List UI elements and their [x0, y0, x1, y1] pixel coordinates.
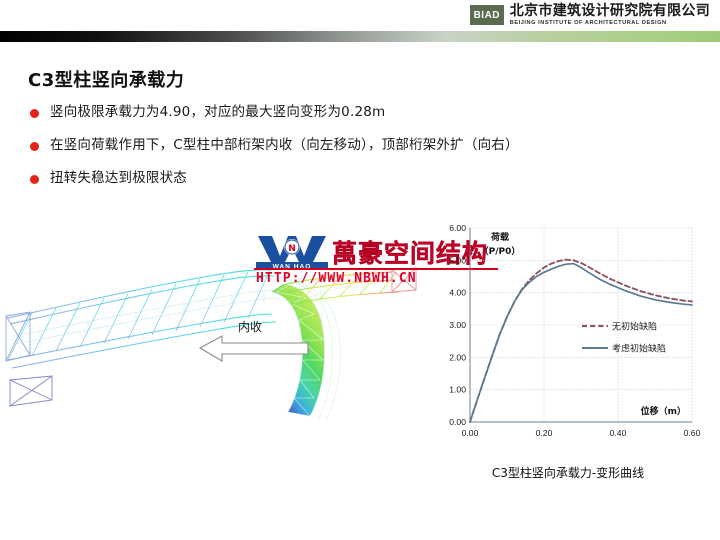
- chart-legend: 无初始缺陷考虑初始缺陷: [582, 320, 666, 354]
- svg-text:荷载: 荷载: [490, 231, 509, 243]
- biad-logo: BIAD 北京市建筑设计研究院有限公司 BEIJING INSTITUTE OF…: [470, 4, 710, 27]
- header-gradient-bar: [0, 31, 720, 42]
- chart-svg: 0.001.002.003.004.005.006.000.000.200.40…: [434, 216, 702, 464]
- chart-caption: C3型柱竖向承载力-变形曲线: [434, 464, 702, 481]
- company-name-cn: 北京市建筑设计研究院有限公司: [510, 4, 710, 18]
- bullet-list: 竖向极限承载力为4.90，对应的最大竖向变形为0.28m 在竖向荷载作用下，C型…: [30, 104, 690, 203]
- svg-text:0.40: 0.40: [610, 428, 627, 438]
- svg-text:（P/P0）: （P/P0）: [480, 246, 521, 257]
- svg-text:6.00: 6.00: [449, 223, 466, 233]
- bullet-dot-icon: [30, 142, 39, 151]
- svg-text:0.00: 0.00: [449, 417, 466, 427]
- svg-text:4.00: 4.00: [449, 288, 466, 298]
- truss-start-box: [6, 312, 30, 361]
- inward-arrow-annotation: 内收: [196, 318, 314, 370]
- list-item: 在竖向荷载作用下，C型柱中部桁架内收（向左移动），顶部桁架外扩（向右）: [30, 137, 690, 154]
- svg-text:0.00: 0.00: [462, 428, 479, 438]
- svg-text:3.00: 3.00: [449, 320, 466, 330]
- bullet-text: 竖向极限承载力为4.90，对应的最大竖向变形为0.28m: [50, 104, 385, 121]
- svg-text:1.00: 1.00: [449, 385, 466, 395]
- svg-text:无初始缺陷: 无初始缺陷: [612, 320, 657, 332]
- biad-logo-mark: BIAD: [470, 5, 504, 25]
- svg-text:5.00: 5.00: [449, 255, 466, 265]
- svg-text:2.00: 2.00: [449, 352, 466, 362]
- svg-text:0.60: 0.60: [684, 428, 701, 438]
- bullet-text: 在竖向荷载作用下，C型柱中部桁架内收（向左移动），顶部桁架外扩（向右）: [50, 137, 519, 154]
- bullet-dot-icon: [30, 175, 39, 184]
- svg-text:考虑初始缺陷: 考虑初始缺陷: [612, 342, 666, 354]
- list-item: 扭转失稳达到极限状态: [30, 170, 690, 187]
- svg-text:0.20: 0.20: [536, 428, 553, 438]
- svg-text:位移（m）: 位移（m）: [641, 405, 686, 417]
- page-header: BIAD 北京市建筑设计研究院有限公司 BEIJING INSTITUTE OF…: [0, 0, 720, 42]
- load-displacement-chart: 0.001.002.003.004.005.006.000.000.200.40…: [434, 216, 702, 488]
- bullet-text: 扭转失稳达到极限状态: [50, 170, 187, 187]
- biad-logo-text: 北京市建筑设计研究院有限公司 BEIJING INSTITUTE OF ARCH…: [510, 4, 710, 27]
- page-title: C3型柱竖向承载力: [28, 66, 184, 92]
- chart-series: [470, 260, 692, 422]
- arrow-label: 内收: [238, 318, 262, 335]
- list-item: 竖向极限承载力为4.90，对应的最大竖向变形为0.28m: [30, 104, 690, 121]
- company-name-en: BEIJING INSTITUTE OF ARCHITECTURAL DESIG…: [510, 21, 710, 27]
- bullet-dot-icon: [30, 109, 39, 118]
- truss-end-box: [10, 376, 52, 406]
